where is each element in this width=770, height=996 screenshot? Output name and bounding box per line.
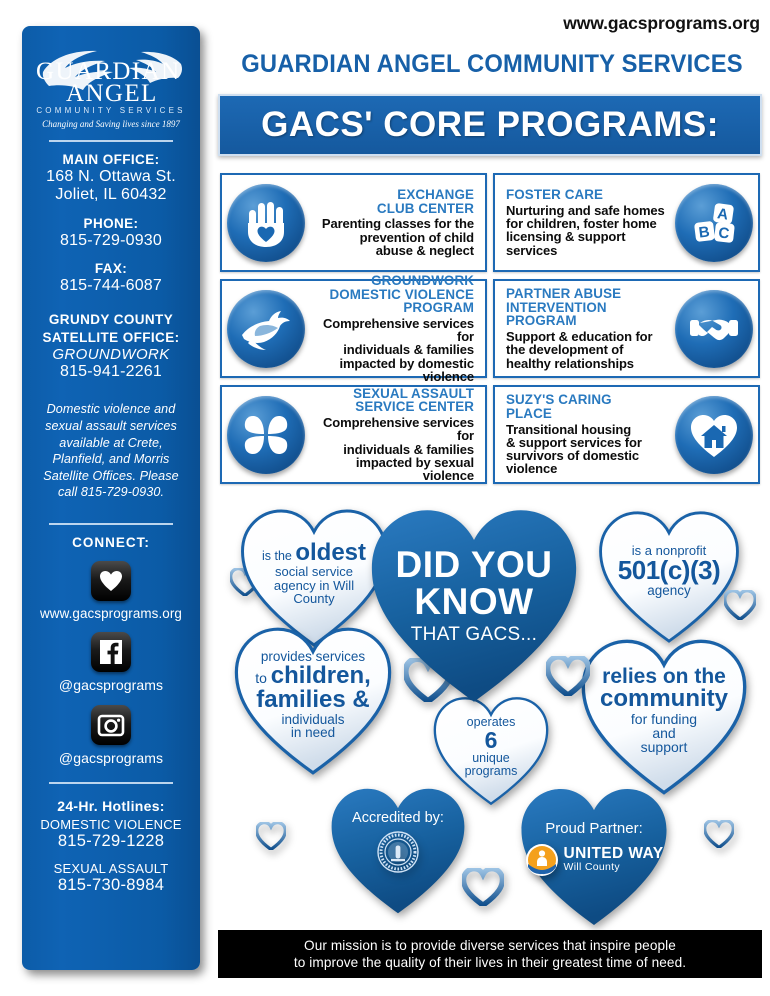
main-office-label: Main Office: [30, 152, 192, 168]
main-office-street: 168 N. Ottawa St. [30, 168, 192, 187]
program-text: SUZY'S CARING PLACE Transitional housing… [500, 393, 675, 475]
program-description: Nurturing and safe homes for children, f… [506, 204, 669, 257]
programs-row: SEXUAL ASSAULT SERVICE CENTER Comprehens… [220, 385, 760, 484]
connect-label: Connect: [30, 535, 192, 550]
butterfly-icon [227, 396, 305, 474]
instagram-icon[interactable] [91, 705, 131, 745]
hotlines-title: 24-Hr. Hotlines: [30, 798, 192, 814]
abc-blocks-icon: A B C [675, 184, 753, 262]
website-handle[interactable]: www.gacsprograms.org [30, 606, 192, 621]
desc-line: survivors of domestic violence [506, 449, 669, 476]
program-description: Parenting classes for the prevention of … [311, 217, 474, 257]
title-line: SEXUAL ASSAULT [311, 387, 474, 401]
desc-line: & support services for [506, 436, 669, 449]
fax-value: 815-744-6087 [30, 277, 192, 296]
fax-label: Fax: [30, 261, 192, 277]
program-title: PARTNER ABUSE INTERVENTION PROGRAM [506, 287, 669, 328]
logo: GUARDIAN ANGEL COMMUNITY SERVICES Changi… [30, 42, 192, 128]
title-line: SUZY'S CARING [506, 393, 669, 407]
satellite-notice: Domestic violence and sexual assault ser… [30, 401, 192, 501]
did-you-know-section: is the oldest social service agency in W… [216, 498, 764, 930]
title-line: FOSTER CARE [506, 188, 669, 202]
divider [49, 140, 173, 142]
programs-row: GROUNDWORK DOMESTIC VIOLENCE PROGRAM Com… [220, 279, 760, 378]
program-text: PARTNER ABUSE INTERVENTION PROGRAM Suppo… [500, 287, 675, 370]
phone-value[interactable]: 815-729-0930 [30, 232, 192, 251]
logo-angel-text: ANGEL [66, 80, 216, 108]
logo-subtitle: COMMUNITY SERVICES [30, 106, 192, 115]
mission-statement-bar: Our mission is to provide diverse servic… [218, 930, 762, 978]
title-line: PARTNER ABUSE [506, 287, 669, 301]
desc-line: individuals & families [311, 443, 474, 456]
desc-line: Parenting classes for the [311, 217, 474, 230]
desc-line: Nurturing and safe homes [506, 204, 669, 217]
satellite-label-line1: Grundy County [30, 312, 192, 328]
desc-line: prevention of child [311, 231, 474, 244]
mission-statement: Our mission is to provide diverse servic… [294, 937, 686, 972]
mission-line2: to improve the quality of their lives in… [294, 954, 686, 971]
satellite-phone[interactable]: 815-941-2261 [30, 363, 192, 382]
dove-icon [227, 290, 305, 368]
title-line: PLACE [506, 407, 669, 421]
handprint-heart-icon [227, 184, 305, 262]
desc-line: abuse & neglect [311, 244, 474, 257]
divider [49, 523, 173, 525]
desc-line: Comprehensive services for [311, 317, 474, 344]
program-description: Comprehensive services for individuals &… [311, 416, 474, 482]
hotlines-block: 24-Hr. Hotlines: DOMESTIC VIOLENCE 815-7… [30, 798, 192, 895]
fax-block: Fax: 815-744-6087 [30, 261, 192, 295]
program-card-sexual-assault-service-center[interactable]: SEXUAL ASSAULT SERVICE CENTER Comprehens… [220, 385, 487, 484]
desc-line: impacted by sexual violence [311, 456, 474, 483]
decor-heart-small [462, 868, 504, 906]
instagram-handle[interactable]: @gacsprograms [30, 750, 192, 766]
decor-heart-small [704, 820, 734, 848]
program-card-partner-abuse-intervention[interactable]: PARTNER ABUSE INTERVENTION PROGRAM Suppo… [493, 279, 760, 378]
program-title: FOSTER CARE [506, 188, 669, 202]
program-title: GROUNDWORK DOMESTIC VIOLENCE PROGRAM [311, 274, 474, 315]
house-in-heart-icon [675, 396, 753, 474]
program-title: EXCHANGE CLUB CENTER [311, 188, 474, 215]
program-text: EXCHANGE CLUB CENTER Parenting classes f… [305, 188, 480, 257]
social-link-website[interactable]: www.gacsprograms.org [30, 561, 192, 621]
desc-line: Transitional housing [506, 423, 669, 436]
title-line: INTERVENTION [506, 301, 669, 315]
program-title: SUZY'S CARING PLACE [506, 393, 669, 420]
fact-heart-community: relies on the community for funding and … [576, 638, 752, 796]
hotline-number-dv[interactable]: 815-729-1228 [30, 832, 192, 851]
hotline-number-sa[interactable]: 815-730-8984 [30, 876, 192, 895]
contact-sidebar: GUARDIAN ANGEL COMMUNITY SERVICES Changi… [22, 26, 200, 970]
satellite-name: GROUNDWORK [30, 346, 192, 363]
facebook-icon[interactable] [91, 632, 131, 672]
desc-line: Comprehensive services for [311, 416, 474, 443]
title-line: PROGRAM [506, 314, 669, 328]
decor-heart-small [256, 822, 286, 850]
desc-line: Support & education for [506, 330, 669, 343]
did-you-know-heart: DID YOU KNOW THAT GACS... [364, 506, 584, 706]
program-text: FOSTER CARE Nurturing and safe homes for… [500, 188, 675, 257]
satellite-label-line2: Satellite Office: [30, 330, 192, 346]
phone-block: Phone: 815-729-0930 [30, 216, 192, 250]
program-description: Support & education for the development … [506, 330, 669, 370]
handshake-icon [675, 290, 753, 368]
svg-text:C: C [718, 224, 731, 242]
page-title: GUARDIAN ANGEL COMMUNITY SERVICES [236, 50, 749, 79]
program-card-exchange-club-center[interactable]: EXCHANGE CLUB CENTER Parenting classes f… [220, 173, 487, 272]
program-description: Transitional housing & support services … [506, 423, 669, 476]
fact-heart-nonprofit: is a nonprofit 501(c)(3) agency [594, 510, 744, 644]
program-title: SEXUAL ASSAULT SERVICE CENTER [311, 387, 474, 414]
desc-line: licensing & support services [506, 230, 669, 257]
logo-tagline: Changing and Saving lives since 1897 [30, 119, 192, 129]
program-description: Comprehensive services for individuals &… [311, 317, 474, 383]
header-url[interactable]: www.gacsprograms.org [563, 13, 760, 34]
desc-line: for children, foster home [506, 217, 669, 230]
program-text: GROUNDWORK DOMESTIC VIOLENCE PROGRAM Com… [305, 274, 480, 383]
hotline-label-dv: DOMESTIC VIOLENCE [30, 817, 192, 832]
main-office-city: Joliet, IL 60432 [30, 186, 192, 205]
phone-label: Phone: [30, 216, 192, 232]
core-programs-heading-bar: GACS' CORE PROGRAMS: [218, 94, 762, 156]
title-line: SERVICE CENTER [311, 400, 474, 414]
title-line: DOMESTIC VIOLENCE [311, 288, 474, 302]
proud-partner-heart: Proud Partner: UNITED [504, 786, 684, 928]
program-card-groundwork-domestic-violence[interactable]: GROUNDWORK DOMESTIC VIOLENCE PROGRAM Com… [220, 279, 487, 378]
satellite-office-block: Grundy County Satellite Office: GROUNDWO… [30, 312, 192, 381]
program-card-suzys-caring-place[interactable]: SUZY'S CARING PLACE Transitional housing… [493, 385, 760, 484]
title-line: EXCHANGE [311, 188, 474, 202]
mission-line1: Our mission is to provide diverse servic… [294, 937, 686, 954]
program-card-foster-care[interactable]: A B C FOSTER CARE Nurturing and safe hom… [493, 173, 760, 272]
desc-line: impacted by domestic violence [311, 357, 474, 384]
facebook-handle[interactable]: @gacsprograms [30, 677, 192, 693]
social-link-instagram[interactable]: @gacsprograms [30, 705, 192, 766]
svg-text:B: B [698, 223, 711, 241]
hotline-label-sa: SEXUAL ASSAULT [30, 861, 192, 876]
title-line: CLUB CENTER [311, 202, 474, 216]
title-line: GROUNDWORK [311, 274, 474, 288]
desc-line: individuals & families [311, 343, 474, 356]
title-line: PROGRAM [311, 301, 474, 315]
main-office-block: Main Office: 168 N. Ottawa St. Joliet, I… [30, 152, 192, 205]
programs-row: EXCHANGE CLUB CENTER Parenting classes f… [220, 173, 760, 272]
programs-grid: EXCHANGE CLUB CENTER Parenting classes f… [220, 173, 760, 491]
social-link-facebook[interactable]: @gacsprograms [30, 632, 192, 693]
accredited-heart: Accredited by: [318, 786, 478, 916]
core-programs-heading: GACS' CORE PROGRAMS: [261, 105, 719, 145]
heart-icon[interactable] [91, 561, 131, 601]
decor-heart-small [724, 590, 756, 620]
program-text: SEXUAL ASSAULT SERVICE CENTER Comprehens… [305, 387, 480, 483]
infographic-page: GUARDIAN ANGEL COMMUNITY SERVICES Changi… [0, 0, 770, 996]
main-content: www.gacsprograms.org GUARDIAN ANGEL COMM… [216, 0, 764, 996]
divider [49, 782, 173, 784]
desc-line: the development of [506, 343, 669, 356]
desc-line: healthy relationships [506, 357, 669, 370]
